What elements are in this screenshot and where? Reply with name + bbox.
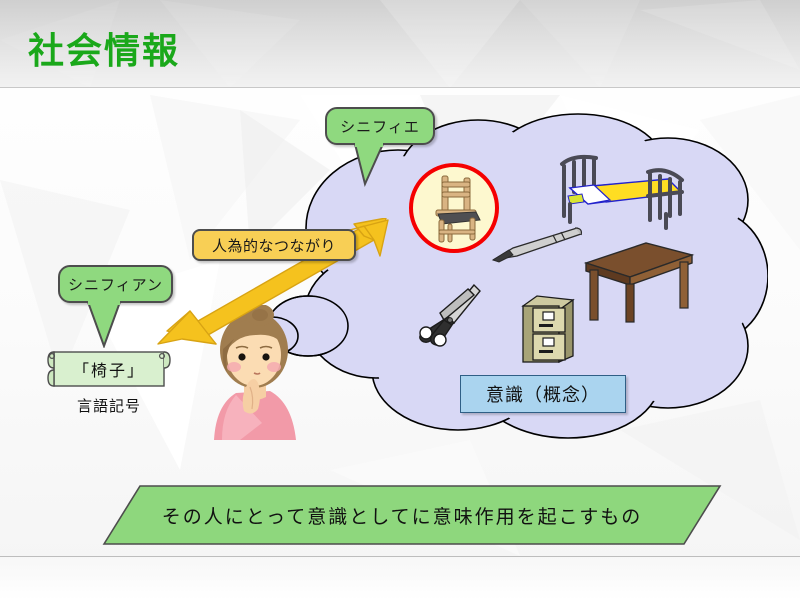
callout-signifie: シニフィエ <box>325 107 435 145</box>
header-divider <box>0 87 800 88</box>
callout-link: 人為的なつながり <box>192 229 356 261</box>
presentation-slide: 社会情報 <box>0 0 800 600</box>
scroll-label: 「椅子」 <box>46 348 172 390</box>
scroll-caption: 言語記号 <box>46 395 172 416</box>
callout-signifie-label: シニフィエ <box>340 116 420 137</box>
bed-illustration <box>548 152 698 232</box>
callout-signifiant-tail <box>86 300 130 348</box>
table-illustration <box>582 237 696 325</box>
concept-box: 意識（概念） <box>460 375 626 413</box>
slide-footer: Libre Office 4 LibreOffice Productivity … <box>0 557 800 600</box>
callout-signifiant-label: シニフィアン <box>68 274 163 295</box>
chair-illustration <box>424 172 486 246</box>
page-title: 社会情報 <box>28 22 180 74</box>
scissors-illustration <box>414 283 486 347</box>
callout-signifie-tail <box>353 142 397 188</box>
pen-illustration <box>487 224 583 266</box>
summary-banner-text: その人にとって意識としてに意味作用を起こすもの <box>82 484 722 546</box>
filing-cabinet-illustration <box>521 294 577 366</box>
